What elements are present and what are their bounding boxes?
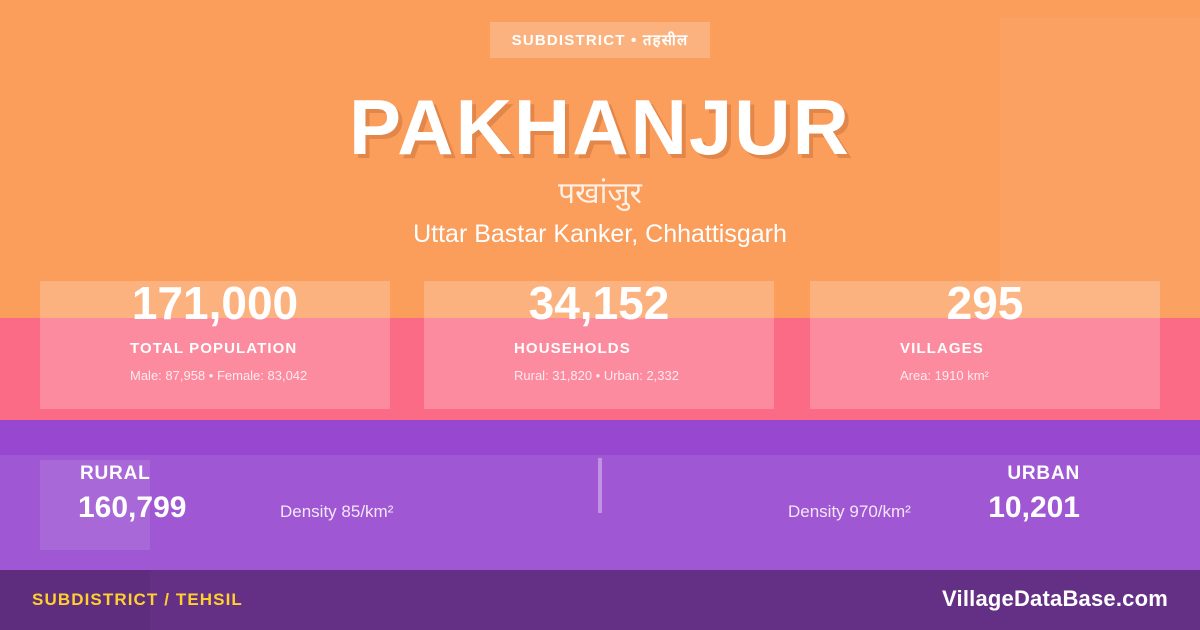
rural-urban-divider xyxy=(598,458,602,513)
page-title: PAKHANJUR xyxy=(0,84,1200,170)
stat-card-households: 34,152 HOUSEHOLDS Rural: 31,820 • Urban:… xyxy=(424,281,774,409)
stat-card-villages: 295 VILLAGES Area: 1910 km² xyxy=(810,281,1160,409)
stat-value: 295 xyxy=(810,273,1160,333)
rural-value: 160,799 xyxy=(78,488,186,528)
urban-label: URBAN xyxy=(1007,461,1080,487)
stat-label: HOUSEHOLDS xyxy=(514,339,631,359)
stat-label: VILLAGES xyxy=(900,339,984,359)
subdistrict-badge: SUBDISTRICT • तहसील xyxy=(490,22,710,58)
stat-card-total-population: 171,000 TOTAL POPULATION Male: 87,958 • … xyxy=(40,281,390,409)
urban-density: Density 970/km² xyxy=(788,500,911,524)
stat-sublabel: Male: 87,958 • Female: 83,042 xyxy=(130,367,307,385)
footer-site-name: VillageDataBase.com xyxy=(942,586,1168,612)
urban-value: 10,201 xyxy=(988,488,1080,528)
stat-label: TOTAL POPULATION xyxy=(130,339,297,359)
infographic-card: SUBDISTRICT • तहसील PAKHANJUR पखांजुर Ut… xyxy=(0,0,1200,630)
stat-sublabel: Area: 1910 km² xyxy=(900,367,989,385)
footer-category-label: SUBDISTRICT / TEHSIL xyxy=(32,589,243,611)
page-title-native: पखांजुर xyxy=(0,175,1200,213)
stat-value: 34,152 xyxy=(424,273,774,333)
rural-density: Density 85/km² xyxy=(280,500,393,524)
stat-sublabel: Rural: 31,820 • Urban: 2,332 xyxy=(514,367,679,385)
rural-label: RURAL xyxy=(80,461,151,487)
page-subtitle: Uttar Bastar Kanker, Chhattisgarh xyxy=(0,218,1200,250)
stat-value: 171,000 xyxy=(40,273,390,333)
subdistrict-badge-label: SUBDISTRICT • तहसील xyxy=(512,30,689,50)
